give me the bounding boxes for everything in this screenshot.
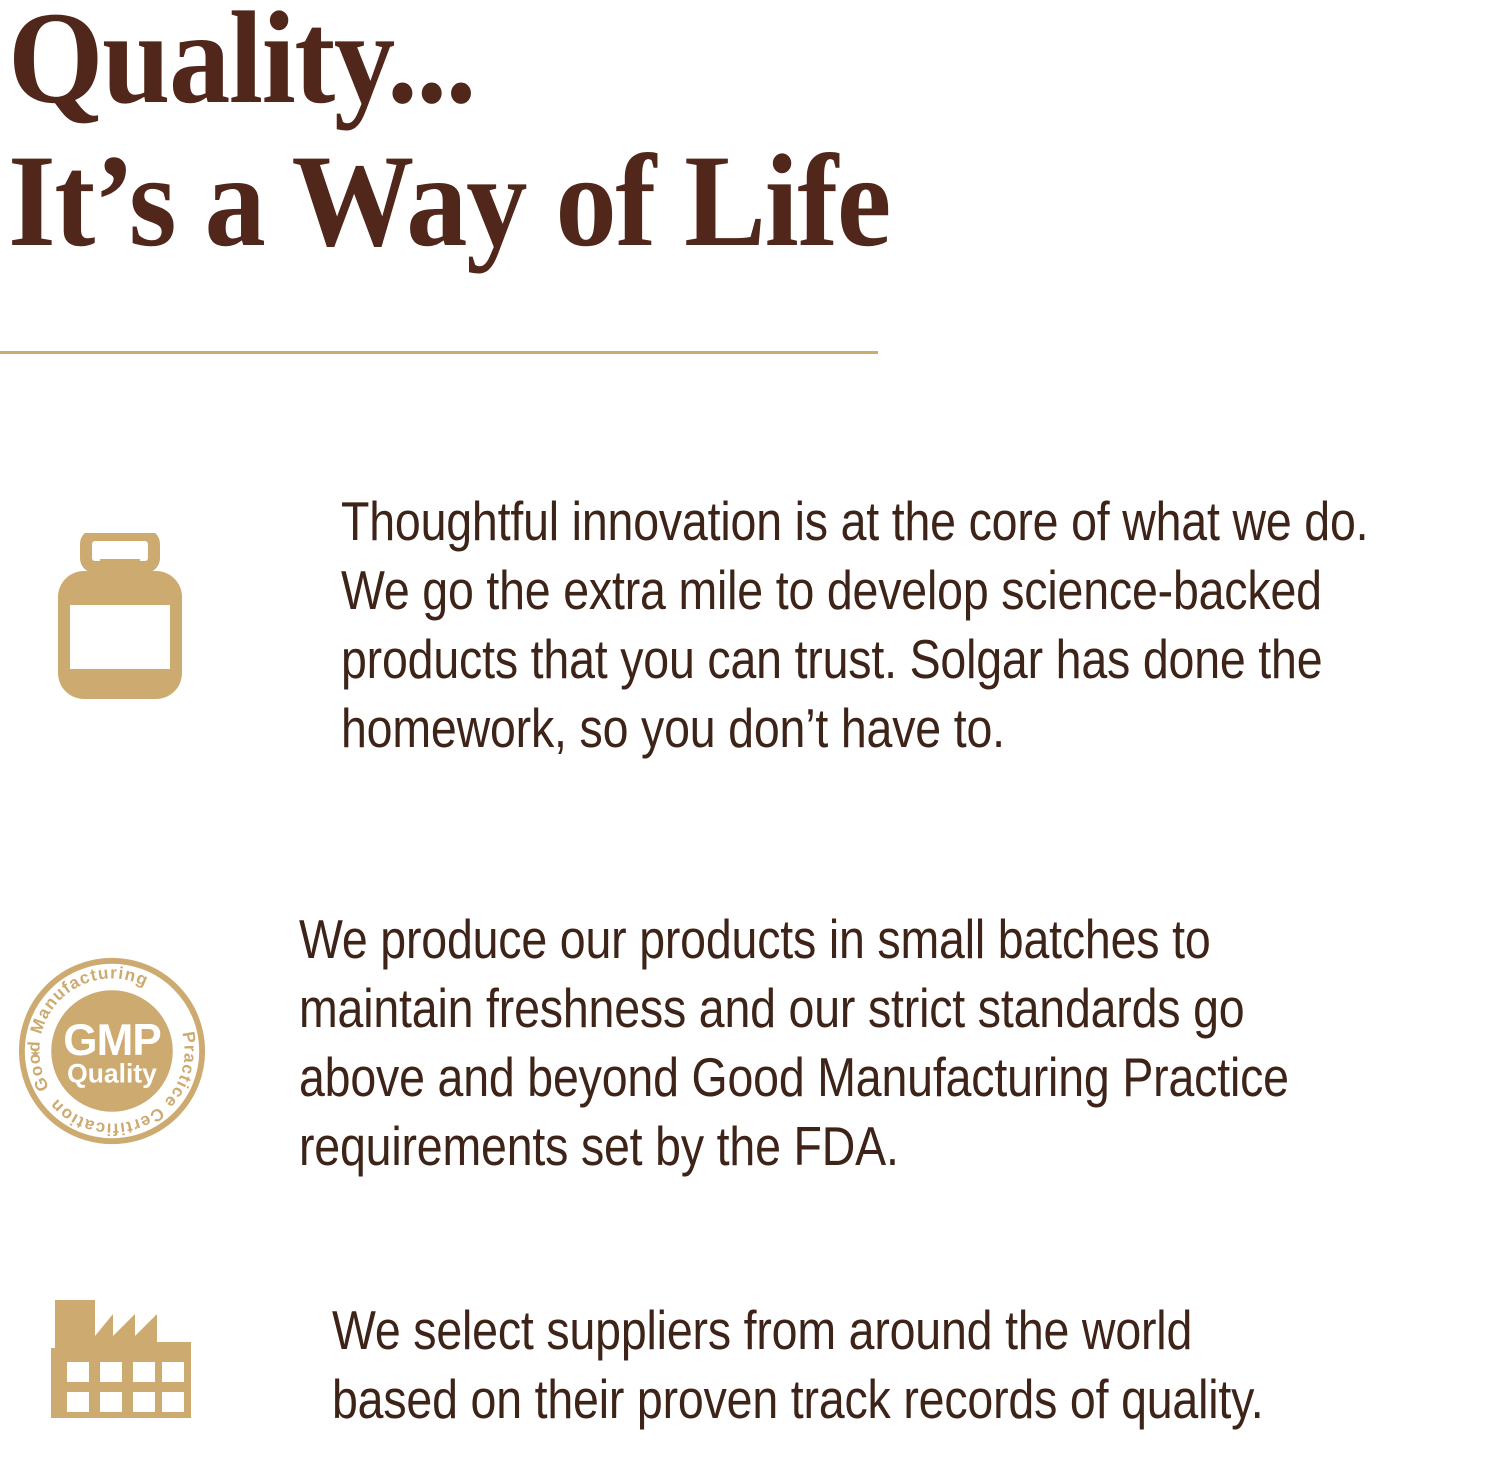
feature-text-line: products that you can trust. Solgar has … bbox=[341, 625, 1368, 694]
feature-text-line: based on their proven track records of q… bbox=[332, 1365, 1294, 1434]
factory-icon bbox=[47, 1300, 199, 1423]
feature-row-suppliers: We select suppliers from around the worl… bbox=[0, 1296, 1470, 1434]
page-title-line-1: Quality... bbox=[8, 0, 1217, 129]
feature-text-line: We go the extra mile to develop science-… bbox=[341, 556, 1368, 625]
feature-text-line: homework, so you don’t have to. bbox=[341, 694, 1368, 763]
gmp-center-subtitle: Quality bbox=[67, 1058, 157, 1088]
feature-row-innovation: Thoughtful innovation is at the core of … bbox=[0, 487, 1470, 763]
feature-text-line: requirements set by the FDA. bbox=[299, 1112, 1289, 1181]
feature-icon-cell bbox=[0, 487, 341, 706]
gmp-quality-seal-icon: Good Manufacturing Practice Certificatio… bbox=[14, 953, 210, 1149]
feature-row-gmp: Good Manufacturing Practice Certificatio… bbox=[0, 905, 1470, 1181]
feature-text-line: Thoughtful innovation is at the core of … bbox=[341, 487, 1368, 556]
heading-divider bbox=[0, 351, 878, 354]
feature-text-suppliers: We select suppliers from around the worl… bbox=[332, 1296, 1294, 1434]
page-title-line-2: It’s a Way of Life bbox=[8, 129, 1217, 272]
supplement-bottle-icon bbox=[56, 533, 184, 706]
page-title: Quality... It’s a Way of Life bbox=[8, 0, 1308, 272]
feature-text-line: maintain freshness and our strict standa… bbox=[299, 974, 1289, 1043]
feature-text-innovation: Thoughtful innovation is at the core of … bbox=[341, 487, 1368, 763]
gmp-star-separator-icon: ★ bbox=[30, 1047, 41, 1062]
feature-text-gmp: We produce our products in small batches… bbox=[299, 905, 1289, 1181]
feature-text-line: above and beyond Good Manufacturing Prac… bbox=[299, 1043, 1289, 1112]
feature-text-line: We select suppliers from around the worl… bbox=[332, 1296, 1294, 1365]
feature-icon-cell bbox=[0, 1296, 332, 1423]
feature-icon-cell: Good Manufacturing Practice Certificatio… bbox=[0, 905, 299, 1149]
feature-text-line: We produce our products in small batches… bbox=[299, 905, 1289, 974]
